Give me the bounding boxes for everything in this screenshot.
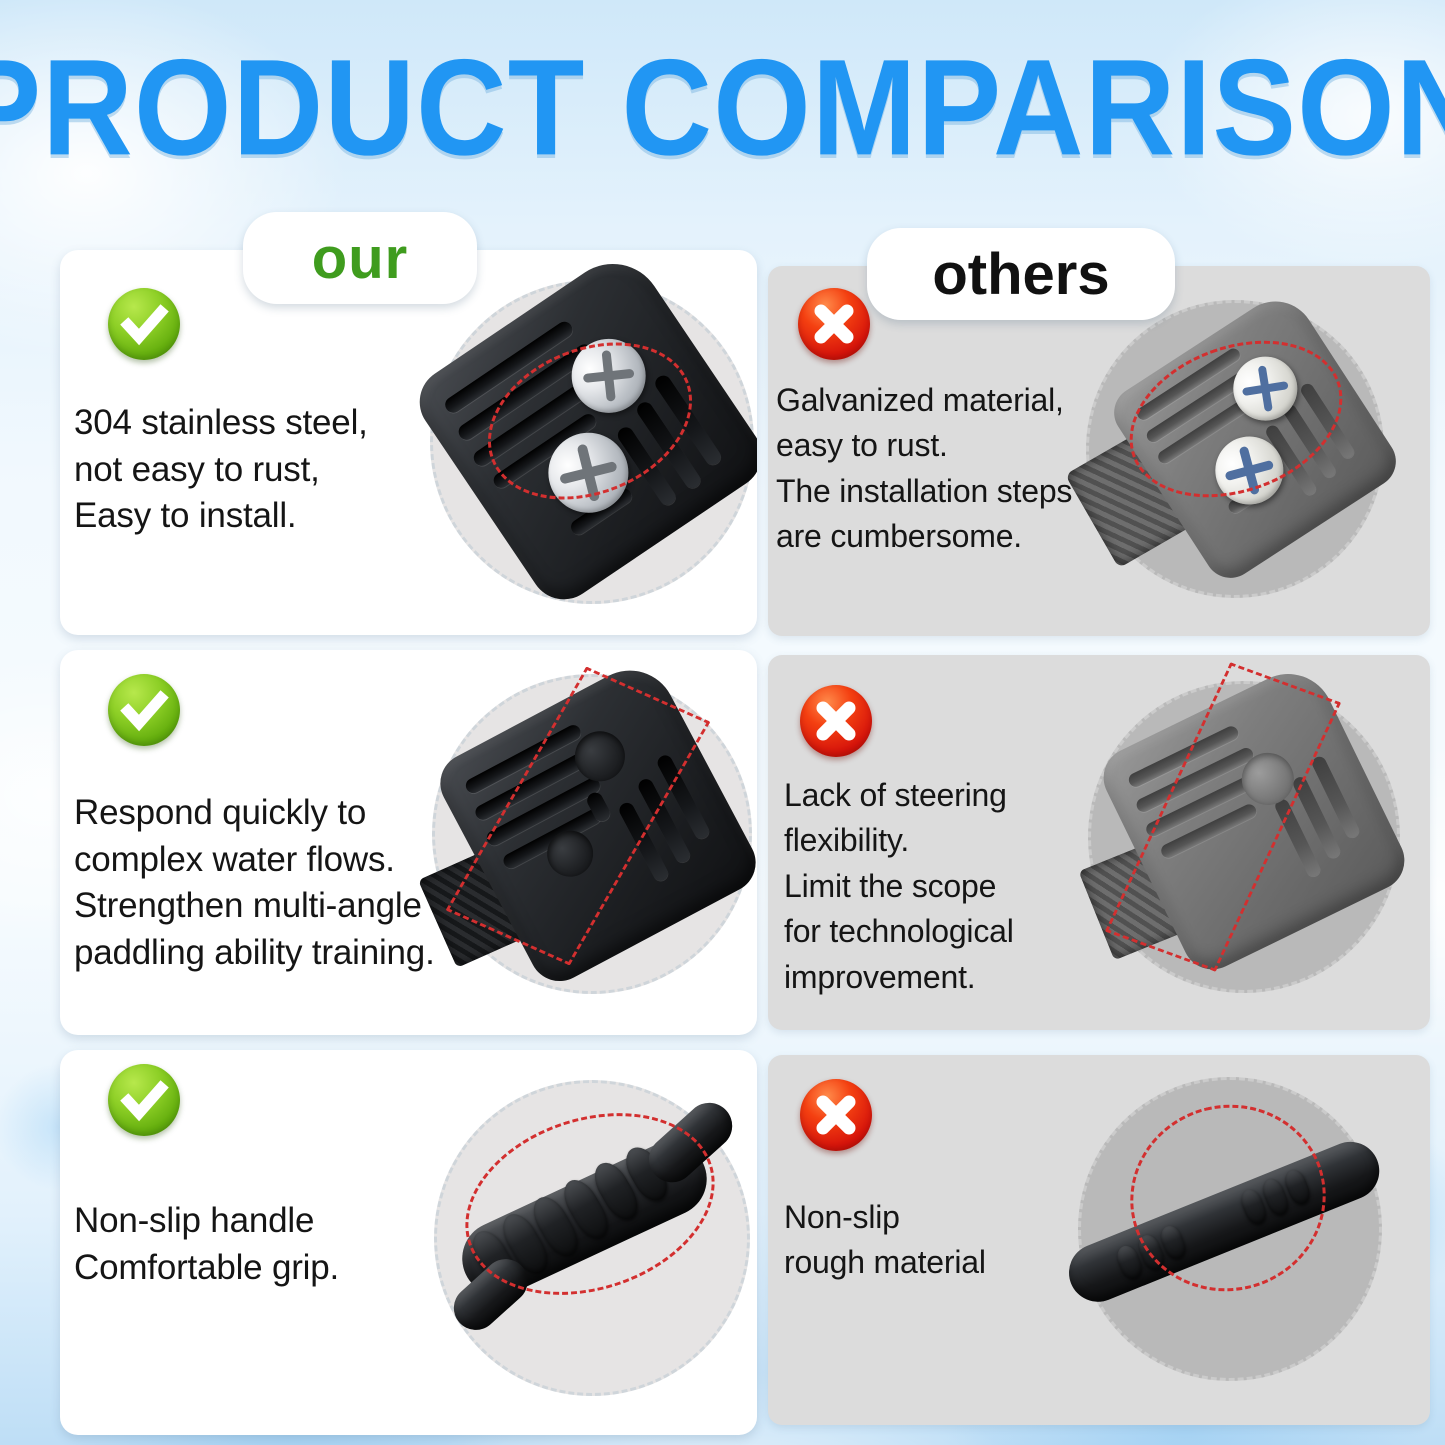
card-others-2-text: Lack of steering flexibility. Limit the …	[784, 773, 1084, 1000]
cross-circle-icon	[800, 1079, 872, 1151]
pedal-stainless-photo	[418, 268, 757, 618]
check-circle-icon	[108, 674, 180, 746]
card-others-1-text: Galvanized material, easy to rust. The i…	[776, 378, 1088, 560]
card-ours-1-text: 304 stainless steel, not easy to rust, E…	[74, 400, 454, 540]
gray-pedal-strap-photo	[1068, 667, 1416, 1019]
cross-circle-icon	[798, 288, 870, 360]
tab-others[interactable]: others	[867, 228, 1175, 320]
card-ours-3-text: Non-slip handle Comfortable grip.	[74, 1198, 474, 1291]
check-circle-icon	[108, 1064, 180, 1136]
card-ours-3: Non-slip handle Comfortable grip.	[60, 1050, 757, 1435]
smooth-bar-photo	[1068, 1069, 1408, 1399]
card-others-1: Galvanized material, easy to rust. The i…	[768, 266, 1430, 636]
pedal-galvanized-photo	[1068, 290, 1398, 610]
comparison-infographic: PRODUCT COMPARISON our others 304 stainl…	[0, 0, 1445, 1445]
card-ours-2: Respond quickly to complex water flows. …	[60, 650, 757, 1035]
card-ours-1: 304 stainless steel, not easy to rust, E…	[60, 250, 757, 635]
tab-others-label: others	[932, 241, 1109, 308]
cross-circle-icon	[800, 685, 872, 757]
tab-our[interactable]: our	[243, 212, 477, 304]
tab-our-label: our	[312, 225, 408, 292]
check-circle-icon	[108, 288, 180, 360]
card-others-2: Lack of steering flexibility. Limit the …	[768, 655, 1430, 1030]
pedal-strap-photo	[410, 664, 757, 1020]
page-title: PRODUCT COMPARISON	[0, 36, 1445, 179]
ribbed-handle-photo	[428, 1074, 757, 1404]
card-others-3-text: Non-slip rough material	[784, 1195, 1084, 1286]
card-others-3: Non-slip rough material	[768, 1055, 1430, 1425]
